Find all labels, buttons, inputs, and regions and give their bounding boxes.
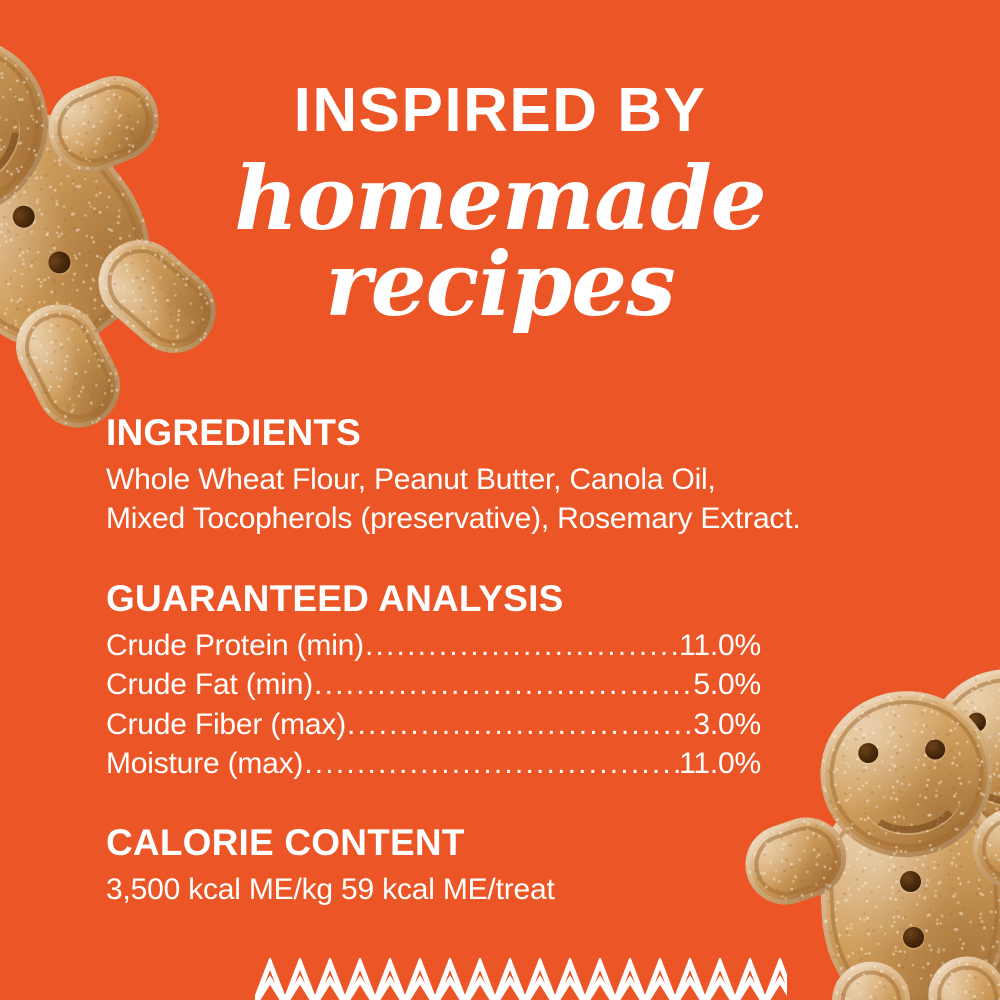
hero-headline: INSPIRED BY homemade recipes <box>0 80 1000 327</box>
ingredients-heading: INGREDIENTS <box>106 414 896 453</box>
package-panel: INSPIRED BY homemade recipes INGREDIENTS… <box>0 0 1000 1000</box>
cookie-button-2 <box>987 894 1000 915</box>
chevron-pattern-svg <box>255 958 787 1000</box>
cookie-head <box>921 663 1000 834</box>
cookie-arm-right <box>965 801 1000 901</box>
ga-row-crude-fiber: Crude Fiber (max) ......................… <box>106 705 761 745</box>
ga-dot-leader: ........................................… <box>304 744 679 784</box>
ga-dot-leader: ........................................… <box>365 626 679 666</box>
ga-row-moisture: Moisture (max) .........................… <box>106 744 761 784</box>
cookie-leg-left <box>822 957 914 1000</box>
cookie-eye-right <box>925 739 946 760</box>
ingredients-section: INGREDIENTS Whole Wheat Flour, Peanut Bu… <box>106 414 896 538</box>
ga-label: Moisture (max) <box>106 744 303 784</box>
ga-dot-leader: ........................................… <box>347 705 693 745</box>
guaranteed-analysis-rows: Crude Protein (min) ....................… <box>106 626 896 784</box>
ga-value: 11.0% <box>679 744 761 784</box>
ingredients-line-2: Mixed Tocopherols (preservative), Rosema… <box>106 499 896 538</box>
ingredients-line-1: Whole Wheat Flour, Peanut Butter, Canola… <box>106 460 896 499</box>
guaranteed-analysis-section: GUARANTEED ANALYSIS Crude Protein (min) … <box>106 580 896 784</box>
cookie-button-2 <box>902 926 924 948</box>
hero-script-homemade: homemade <box>0 156 1000 240</box>
cookie-leg-right <box>921 949 1000 1000</box>
ga-row-crude-fat: Crude Fat (min) ........................… <box>106 665 761 705</box>
ga-label: Crude Fiber (max) <box>106 705 346 745</box>
cookie-leg-left <box>893 914 995 1000</box>
calorie-content-heading: CALORIE CONTENT <box>106 824 896 863</box>
nutrition-panel: INGREDIENTS Whole Wheat Flour, Peanut Bu… <box>106 414 896 909</box>
cookie-smile <box>963 728 1000 806</box>
calorie-content-line-1: 3,500 kcal ME/kg 59 kcal ME/treat <box>106 870 896 909</box>
ga-value: 5.0% <box>693 665 761 705</box>
ga-dot-leader: ........................................… <box>314 665 693 705</box>
ga-row-crude-protein: Crude Protein (min) ....................… <box>106 626 761 666</box>
cookie-button-1 <box>990 840 1000 861</box>
cookie-button-1 <box>900 870 922 892</box>
cookie-eye-left <box>966 712 986 732</box>
cookie-body <box>905 756 1000 983</box>
hero-script-recipes: recipes <box>0 242 1000 326</box>
guaranteed-analysis-heading: GUARANTEED ANALYSIS <box>106 580 896 619</box>
ga-label: Crude Protein (min) <box>106 626 364 666</box>
ga-value: 3.0% <box>693 705 761 745</box>
ga-label: Crude Fat (min) <box>106 665 313 705</box>
calorie-content-section: CALORIE CONTENT 3,500 kcal ME/kg 59 kcal… <box>106 824 896 909</box>
ga-value: 11.0% <box>679 626 761 666</box>
chevron-zigzag-border <box>255 958 787 1000</box>
hero-line-inspired-by: INSPIRED BY <box>0 80 1000 142</box>
